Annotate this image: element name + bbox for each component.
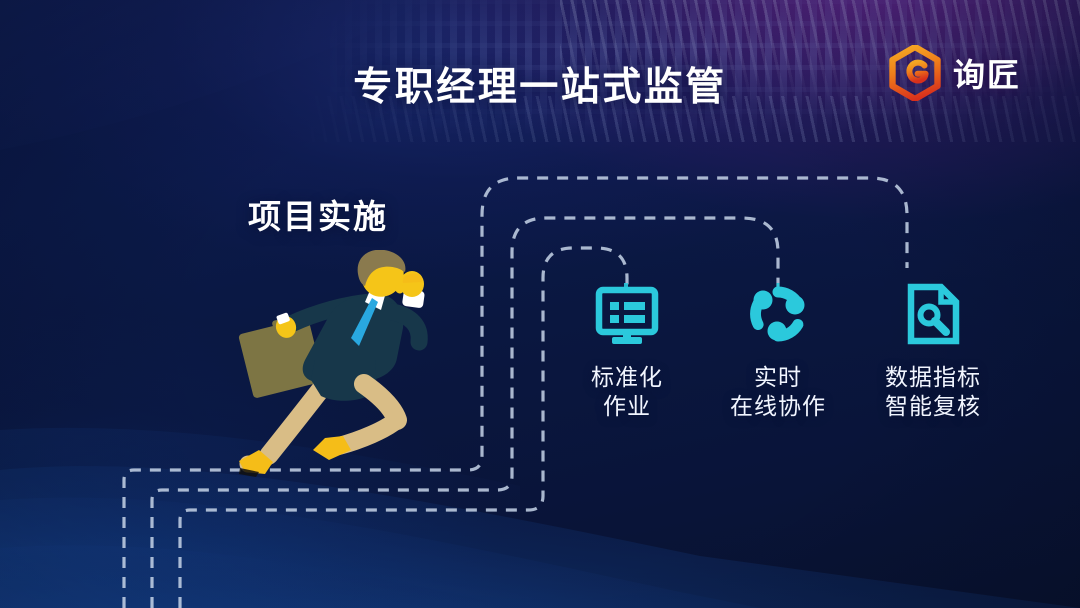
feature-label: 标准化 作业 (551, 363, 703, 421)
brand-logo: 询匠 (888, 45, 1021, 101)
section-label: 项目实施 (248, 190, 388, 238)
hexagon-g-logo-icon (888, 45, 942, 101)
collaboration-network-icon (700, 283, 856, 345)
feature-item-data-metrics-review[interactable]: 数据指标 智能复核 (852, 283, 1014, 421)
document-search-icon (852, 283, 1014, 345)
monitor-checklist-icon (551, 283, 703, 345)
feature-item-realtime-collaboration[interactable]: 实时 在线协作 (700, 283, 856, 421)
running-businessman-illustration (225, 250, 440, 485)
feature-item-standardized-operations[interactable]: 标准化 作业 (551, 283, 703, 421)
brand-name: 询匠 (953, 50, 1021, 96)
feature-label: 数据指标 智能复核 (852, 363, 1014, 421)
feature-label: 实时 在线协作 (700, 363, 856, 421)
slide-stage: 专职经理一站式监管 询匠 项目实施 (0, 0, 1080, 608)
